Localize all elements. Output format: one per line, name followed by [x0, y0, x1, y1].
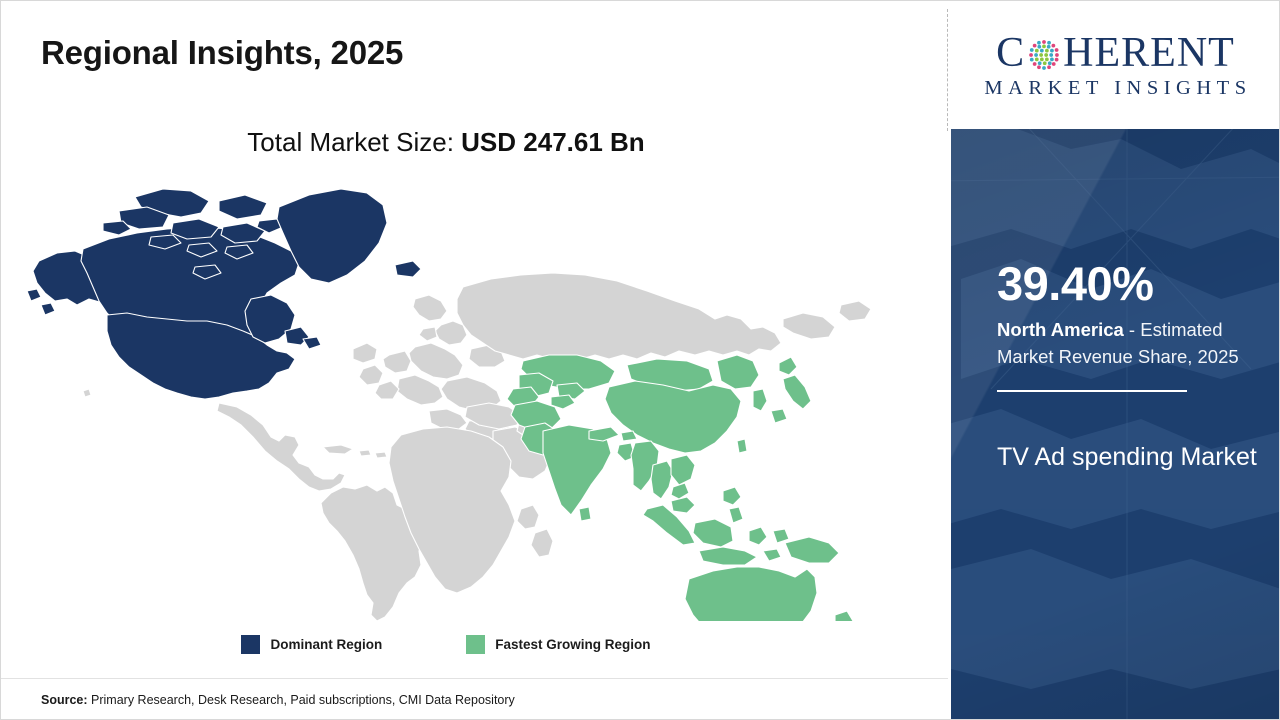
logo-wordmark: C	[966, 32, 1266, 74]
dotted-globe-icon	[1026, 37, 1062, 73]
market-size-value: USD 247.61 Bn	[461, 127, 645, 157]
vertical-dashed-divider	[947, 9, 948, 131]
map-region-north-america	[27, 189, 421, 399]
legend-label: Fastest Growing Region	[495, 637, 650, 652]
company-logo: C	[951, 2, 1280, 128]
legend-item-dominant-region: Dominant Region	[241, 635, 382, 654]
square-swatch-icon	[466, 635, 485, 654]
stat-value: 39.40%	[997, 260, 1259, 307]
regional-insights-infographic: Regional Insights, 2025 Total Market Siz…	[0, 0, 1280, 720]
left-content-pane: Regional Insights, 2025 Total Market Siz…	[1, 1, 948, 720]
world-map	[23, 179, 883, 621]
panel-divider-rule	[997, 390, 1187, 392]
source-bar: Source: Primary Research, Desk Research,…	[1, 678, 948, 720]
stat-description: North America - Estimated Market Revenue…	[997, 317, 1259, 370]
square-swatch-icon	[241, 635, 260, 654]
logo-word-right: HERENT	[1063, 32, 1235, 74]
market-size-label: Total Market Size:	[247, 127, 461, 157]
source-label: Source:	[41, 693, 88, 707]
market-title: TV Ad spending Market	[997, 440, 1259, 475]
page-title: Regional Insights, 2025	[41, 34, 403, 72]
source-value: Primary Research, Desk Research, Paid su…	[88, 693, 515, 707]
logo-subtitle: MARKET INSIGHTS	[966, 78, 1266, 99]
source-text: Source: Primary Research, Desk Research,…	[1, 693, 515, 707]
logo-word-left: C	[996, 32, 1025, 74]
total-market-size: Total Market Size: USD 247.61 Bn	[1, 127, 891, 158]
stat-panel: 39.40% North America - Estimated Market …	[951, 129, 1280, 720]
world-map-container	[23, 179, 883, 621]
panel-content: 39.40% North America - Estimated Market …	[997, 260, 1259, 475]
legend-item-fastest-growing-region: Fastest Growing Region	[466, 635, 650, 654]
map-region-asia-pacific	[507, 355, 861, 621]
map-legend: Dominant Region Fastest Growing Region	[1, 635, 891, 654]
legend-label: Dominant Region	[270, 637, 382, 652]
stat-region-name: North America	[997, 319, 1124, 340]
